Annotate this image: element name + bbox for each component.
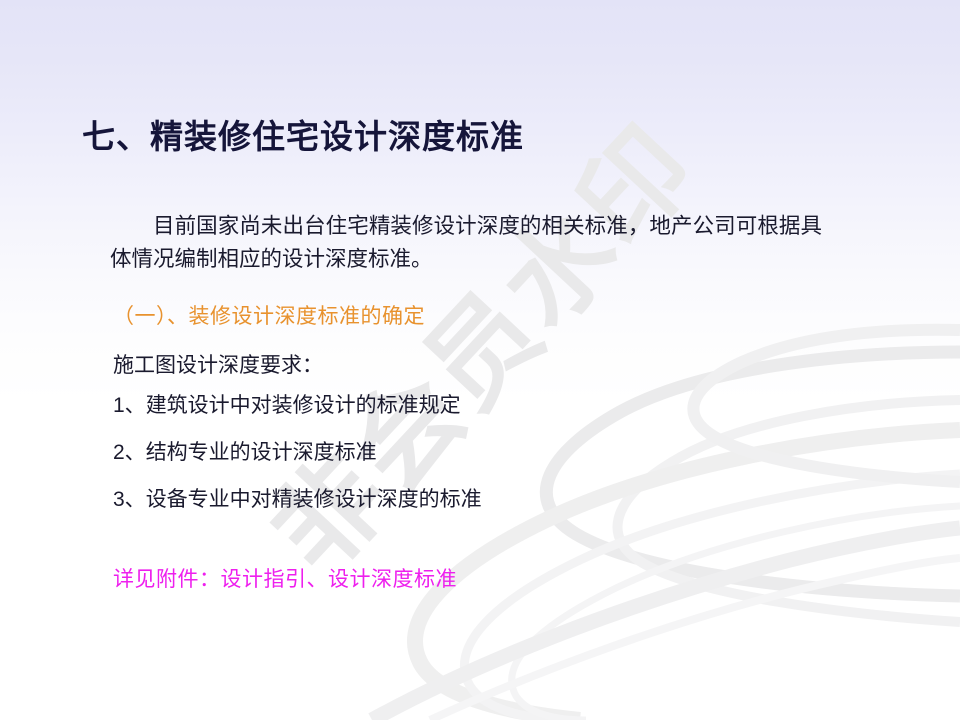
list-item: 2、结构专业的设计深度标准 [113,439,813,466]
list-item-number: 2、 [113,441,146,464]
intro-paragraph: 目前国家尚未出台住宅精装修设计深度的相关标准，地产公司可根据具体情况编制相应的设… [110,210,822,276]
list-item-number: 1、 [113,394,146,417]
requirements-lead-line: 施工图设计深度要求： [113,349,323,379]
section-subheading: （一）、装修设计深度标准的确定 [113,300,425,330]
list-item-label: 建筑设计中对装修设计的标准规定 [146,394,461,417]
requirements-list: 1、建筑设计中对装修设计的标准规定 2、结构专业的设计深度标准 3、设备专业中对… [113,392,813,513]
slide-content: 七、精装修住宅设计深度标准 目前国家尚未出台住宅精装修设计深度的相关标准，地产公… [0,0,960,720]
page-title: 七、精装修住宅设计深度标准 [82,110,524,158]
attachment-note: 详见附件：设计指引、设计深度标准 [113,563,457,593]
list-item-label: 结构专业的设计深度标准 [146,441,377,464]
list-item-number: 3、 [113,488,146,511]
list-item-label: 设备专业中对精装修设计深度的标准 [146,488,482,511]
list-item: 3、设备专业中对精装修设计深度的标准 [113,486,813,513]
list-item: 1、建筑设计中对装修设计的标准规定 [113,392,813,419]
slide-canvas: 非会员水印 七、精装修住宅设计深度标准 目前国家尚未出台住宅精装修设计深度的相关… [0,0,960,720]
